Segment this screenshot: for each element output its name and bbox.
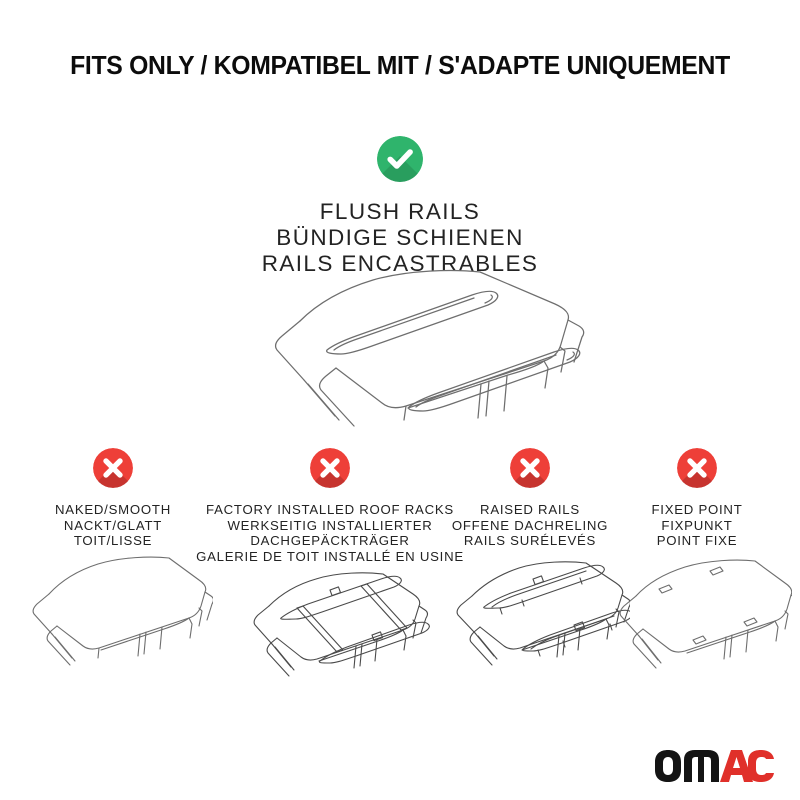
check-circle-icon — [377, 136, 423, 182]
rejected-option-raised-rails: RAISED RAILS OFFENE DACHRELING RAILS SUR… — [440, 448, 620, 549]
logo-letter-c — [748, 750, 774, 782]
x-mark-glyph — [310, 448, 350, 488]
rejected-options-row: NAKED/SMOOTH NACKT/GLATT TOIT/LISSE — [0, 448, 800, 698]
fitment-infographic: FITS ONLY / KOMPATIBEL MIT / S'ADAPTE UN… — [0, 0, 800, 800]
option-label-de: FIXPUNKT — [607, 518, 787, 534]
approved-label-de: BÜNDIGE SCHIENEN — [0, 225, 800, 251]
logo-letter-o — [655, 750, 681, 782]
car-roof-flush-rails-illustration — [208, 268, 608, 438]
car-roof-naked-smooth-illustration — [13, 548, 213, 688]
car-roof-factory-racks-illustration — [225, 564, 435, 699]
logo-letter-m — [684, 750, 719, 782]
rejected-option-fixed-point: FIXED POINT FIXPUNKT POINT FIXE — [607, 448, 787, 549]
x-mark-glyph — [677, 448, 717, 488]
option-label-de: OFFENE DACHRELING — [440, 518, 620, 534]
x-circle-icon — [510, 448, 550, 488]
car-roof-raised-rails-illustration — [430, 548, 630, 688]
x-circle-icon — [93, 448, 133, 488]
check-mark-glyph — [377, 136, 423, 182]
car-roof-fixed-point-illustration — [602, 548, 792, 688]
option-label-fr: RAILS SURÉLEVÉS — [440, 533, 620, 549]
option-label-en: RAISED RAILS — [440, 502, 620, 518]
option-label-en: FIXED POINT — [607, 502, 787, 518]
page-title: FITS ONLY / KOMPATIBEL MIT / S'ADAPTE UN… — [12, 52, 788, 81]
x-mark-glyph — [93, 448, 133, 488]
rejected-option-factory-racks: FACTORY INSTALLED ROOF RACKS WERKSEITIG … — [180, 448, 480, 564]
option-labels: FIXED POINT FIXPUNKT POINT FIXE — [607, 502, 787, 549]
option-label-en: FACTORY INSTALLED ROOF RACKS — [180, 502, 480, 518]
approved-option: FLUSH RAILS BÜNDIGE SCHIENEN RAILS ENCAS… — [0, 136, 800, 277]
option-label-fr: POINT FIXE — [607, 533, 787, 549]
approved-option-labels: FLUSH RAILS BÜNDIGE SCHIENEN RAILS ENCAS… — [0, 199, 800, 277]
approved-label-en: FLUSH RAILS — [0, 199, 800, 225]
option-label-de-2: DACHGEPÄCKTRÄGER — [180, 533, 480, 549]
option-label-de-1: WERKSEITIG INSTALLIERTER — [180, 518, 480, 534]
option-labels: RAISED RAILS OFFENE DACHRELING RAILS SUR… — [440, 502, 620, 549]
x-circle-icon — [677, 448, 717, 488]
x-circle-icon — [310, 448, 350, 488]
x-mark-glyph — [510, 448, 550, 488]
omac-logo — [652, 748, 776, 784]
